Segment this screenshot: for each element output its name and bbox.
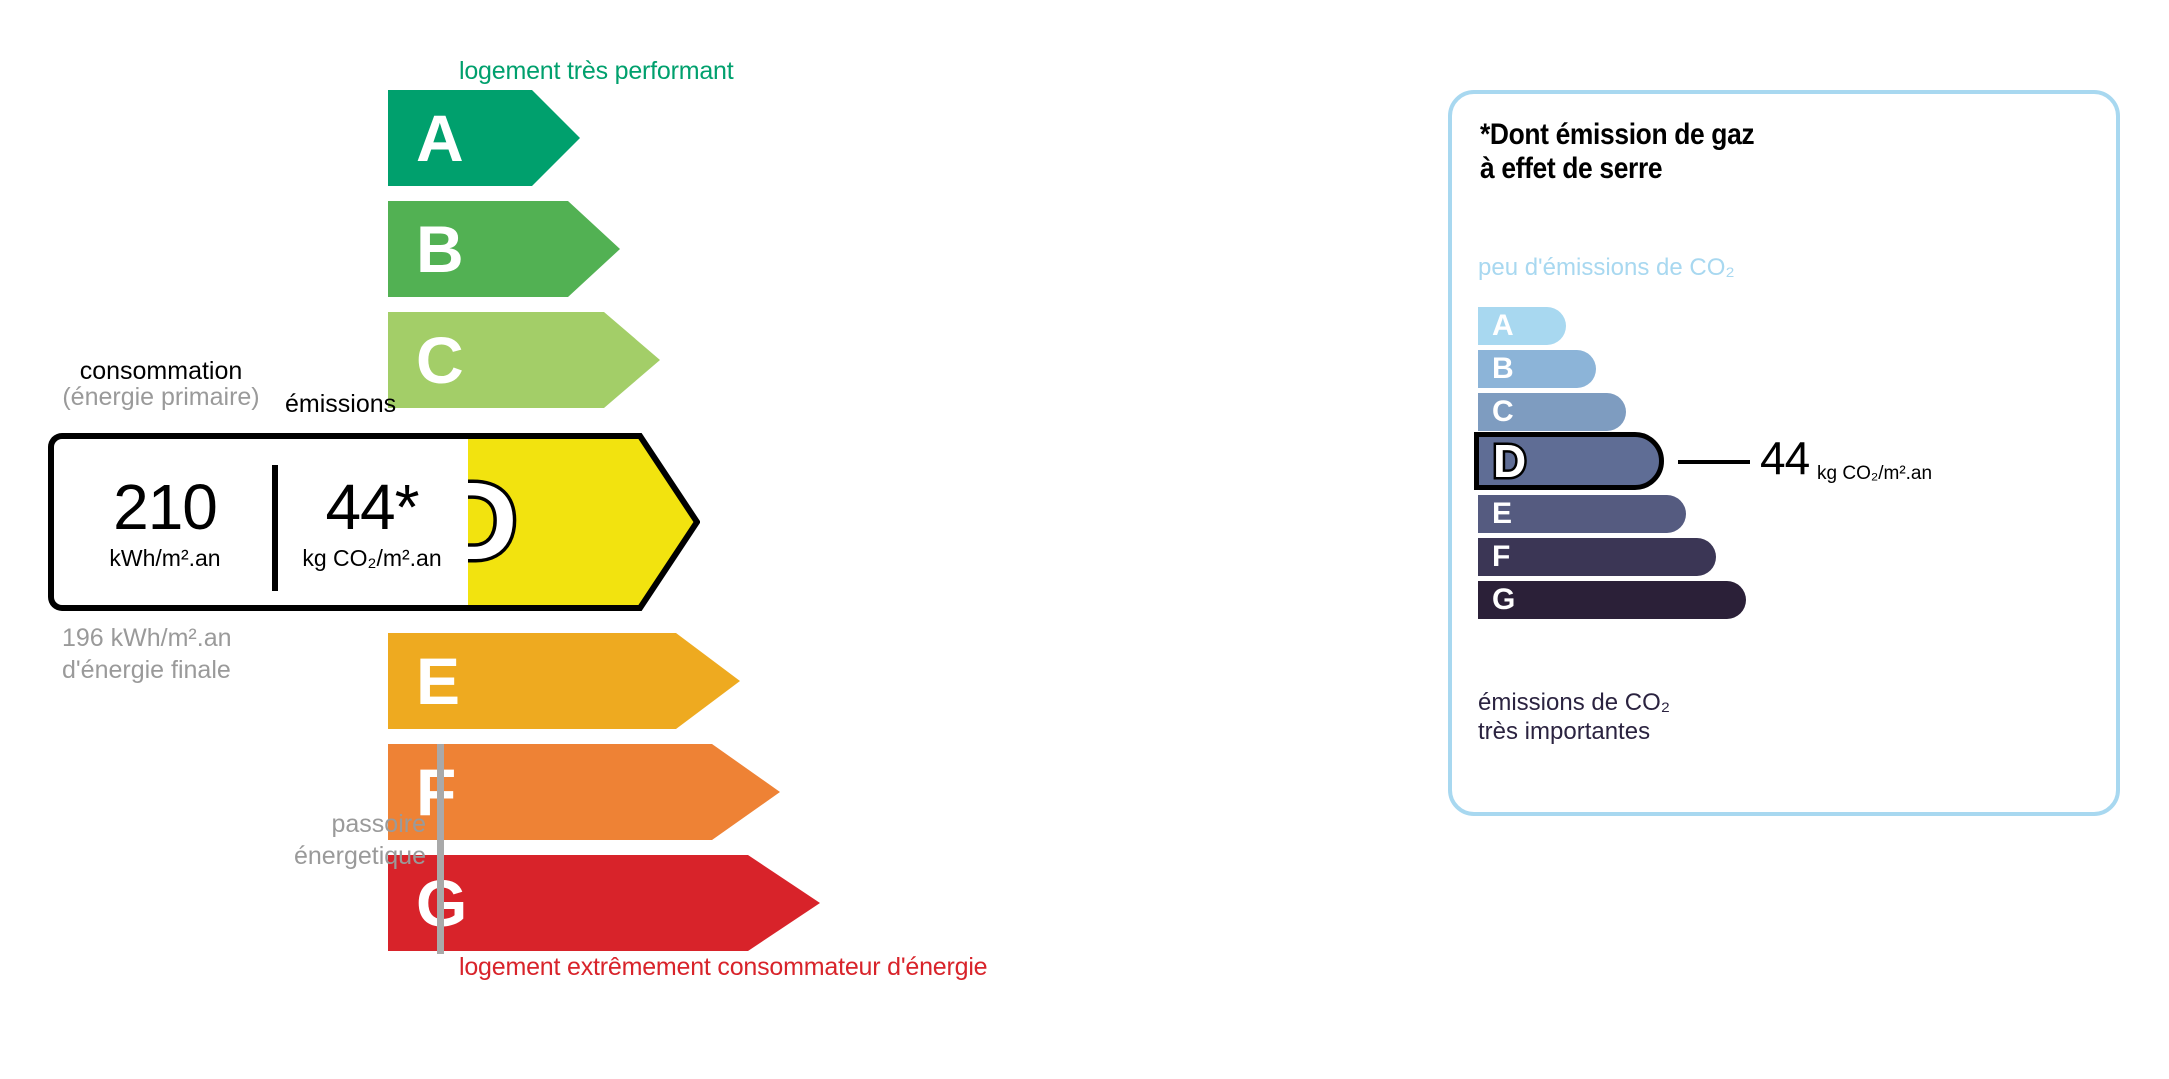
co2-leader-line <box>1678 460 1750 464</box>
energy-bar-b: B <box>388 201 620 297</box>
consumption-unit: kWh/m².an <box>109 547 220 570</box>
co2-emissions-panel: *Dont émission de gaz à effet de serre p… <box>1448 90 2120 816</box>
value-box: 210 kWh/m².an 44* kg CO₂/m².an <box>48 433 468 611</box>
co2-bar-letter: B <box>1492 354 1514 384</box>
co2-value: 44 <box>1760 435 1809 481</box>
co2-bar-letter: A <box>1492 311 1514 341</box>
co2-bar-f: F <box>1478 538 1716 576</box>
passoire-bracket-line <box>437 744 444 954</box>
co2-top-caption: peu d'émissions de CO₂ <box>1478 254 1735 282</box>
consumption-label-main: consommation <box>80 357 243 385</box>
co2-bar-letter: F <box>1492 542 1510 572</box>
passoire-line2: énergetique <box>230 840 426 872</box>
co2-bar-d: D <box>1474 432 1664 490</box>
consumption-cell: 210 kWh/m².an <box>58 439 272 605</box>
co2-panel-title: *Dont émission de gaz à effet de serre <box>1480 118 1754 185</box>
emissions-label: émissions <box>285 390 396 419</box>
emission-value: 44* <box>325 475 418 539</box>
energy-performance-scale: logement très performant ABCDEFG 210 kWh… <box>0 0 1300 1079</box>
emission-unit: kg CO₂/m².an <box>302 547 441 570</box>
co2-bar-letter: E <box>1492 499 1512 529</box>
current-rating-row: 210 kWh/m².an 44* kg CO₂/m².an <box>48 433 945 611</box>
co2-value-unit: kg CO₂/m².an <box>1817 464 1932 483</box>
energy-bar-g: G <box>388 855 820 951</box>
co2-bar-letter: D <box>1493 438 1526 484</box>
co2-bar-g: G <box>1478 581 1746 619</box>
consumption-label-sub: (énergie primaire) <box>48 384 274 410</box>
final-energy-line2: d'énergie finale <box>62 654 232 686</box>
consumption-value: 210 <box>113 475 217 539</box>
energy-bar-e: E <box>388 633 740 729</box>
co2-bar-e: E <box>1478 495 1686 533</box>
co2-bottom-line2: très importantes <box>1478 717 1670 746</box>
scale-bottom-caption: logement extrêmement consommateur d'éner… <box>459 953 987 982</box>
co2-bar-b: B <box>1478 350 1596 388</box>
co2-title-line1: *Dont émission de gaz <box>1480 118 1754 152</box>
passoire-label: passoire énergetique <box>230 808 426 872</box>
co2-bottom-caption: émissions de CO₂ très importantes <box>1478 688 1670 747</box>
energy-bar-letter: C <box>416 327 464 393</box>
co2-title-line2: à effet de serre <box>1480 152 1754 186</box>
co2-bar-a: A <box>1478 307 1566 345</box>
energy-bar-letter: A <box>416 105 464 171</box>
energy-bar-a: A <box>388 90 580 186</box>
final-energy-note: 196 kWh/m².an d'énergie finale <box>62 622 232 686</box>
energy-bar-c: C <box>388 312 660 408</box>
scale-top-caption: logement très performant <box>459 57 734 86</box>
consumption-label: consommation (énergie primaire) <box>48 358 274 411</box>
co2-bar-letter: C <box>1492 397 1514 427</box>
co2-bottom-line1: émissions de CO₂ <box>1478 688 1670 717</box>
emission-cell: 44* kg CO₂/m².an <box>276 439 468 605</box>
final-energy-line1: 196 kWh/m².an <box>62 622 232 654</box>
energy-bar-letter: E <box>416 648 460 714</box>
passoire-line1: passoire <box>230 808 426 840</box>
co2-bar-c: C <box>1478 393 1626 431</box>
energy-bar-f: F <box>388 744 780 840</box>
co2-bar-letter: G <box>1492 585 1515 615</box>
energy-bar-letter: B <box>416 216 464 282</box>
